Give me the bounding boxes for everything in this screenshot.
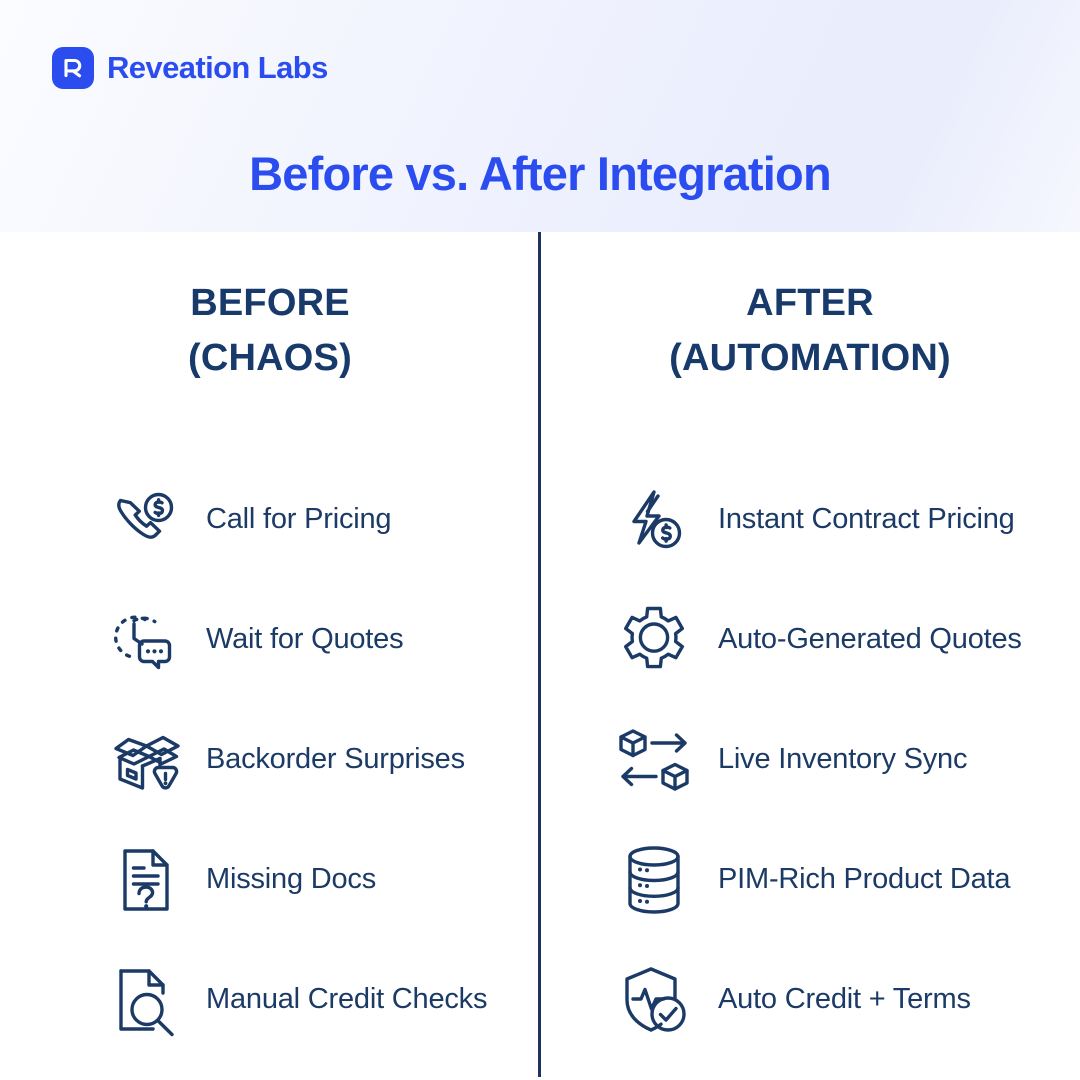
shield-pulse-check-icon [606,958,702,1042]
list-item: Live Inventory Sync [606,700,1080,820]
column-before-title-line2: (CHAOS) [0,331,540,386]
list-item-label: Live Inventory Sync [718,744,967,776]
list-item-label: Wait for Quotes [206,624,403,656]
list-item: PIM-Rich Product Data [606,820,1080,940]
list-item: Auto-Generated Quotes [606,580,1080,700]
document-question-mark-icon [98,838,194,922]
document-magnifier-icon [98,958,194,1042]
phone-dollar-icon [98,478,194,562]
boxes-sync-arrows-icon [606,718,702,802]
column-before-title-line1: BEFORE [190,282,350,324]
clock-chat-bubble-icon [98,598,194,682]
reveation-r-mark-icon [52,47,94,89]
comparison-columns: BEFORE (CHAOS) [0,232,1080,1080]
infographic-page: Reveation Labs Before vs. After Integrat… [0,0,1080,1080]
list-item-label: Missing Docs [206,864,376,896]
list-item-label: Instant Contract Pricing [718,504,1015,536]
database-stack-icon [606,838,702,922]
column-after-list: Instant Contract Pricing Auto-Generated … [606,460,1080,1060]
gear-icon [606,598,702,682]
column-after: AFTER (AUTOMATION) [540,232,1080,1080]
column-after-title-line1: AFTER [746,282,874,324]
list-item: Auto Credit + Terms [606,940,1080,1060]
column-after-title-line2: (AUTOMATION) [540,331,1080,386]
list-item-label: Manual Credit Checks [206,984,487,1016]
page-title: Before vs. After Integration [0,146,1080,201]
list-item-label: Backorder Surprises [206,744,465,776]
lightning-dollar-icon [606,478,702,562]
column-after-title: AFTER (AUTOMATION) [540,276,1080,386]
list-item-label: Auto-Generated Quotes [718,624,1022,656]
list-item-label: Call for Pricing [206,504,391,536]
header-banner: Reveation Labs Before vs. After Integrat… [0,0,1080,232]
list-item-label: PIM-Rich Product Data [718,864,1010,896]
brand-lockup: Reveation Labs [52,47,328,89]
column-before: BEFORE (CHAOS) [0,232,540,1080]
list-item: Instant Contract Pricing [606,460,1080,580]
brand-name: Reveation Labs [107,50,328,86]
column-before-title: BEFORE (CHAOS) [0,276,540,386]
open-box-warning-icon [98,718,194,802]
list-item-label: Auto Credit + Terms [718,984,971,1016]
